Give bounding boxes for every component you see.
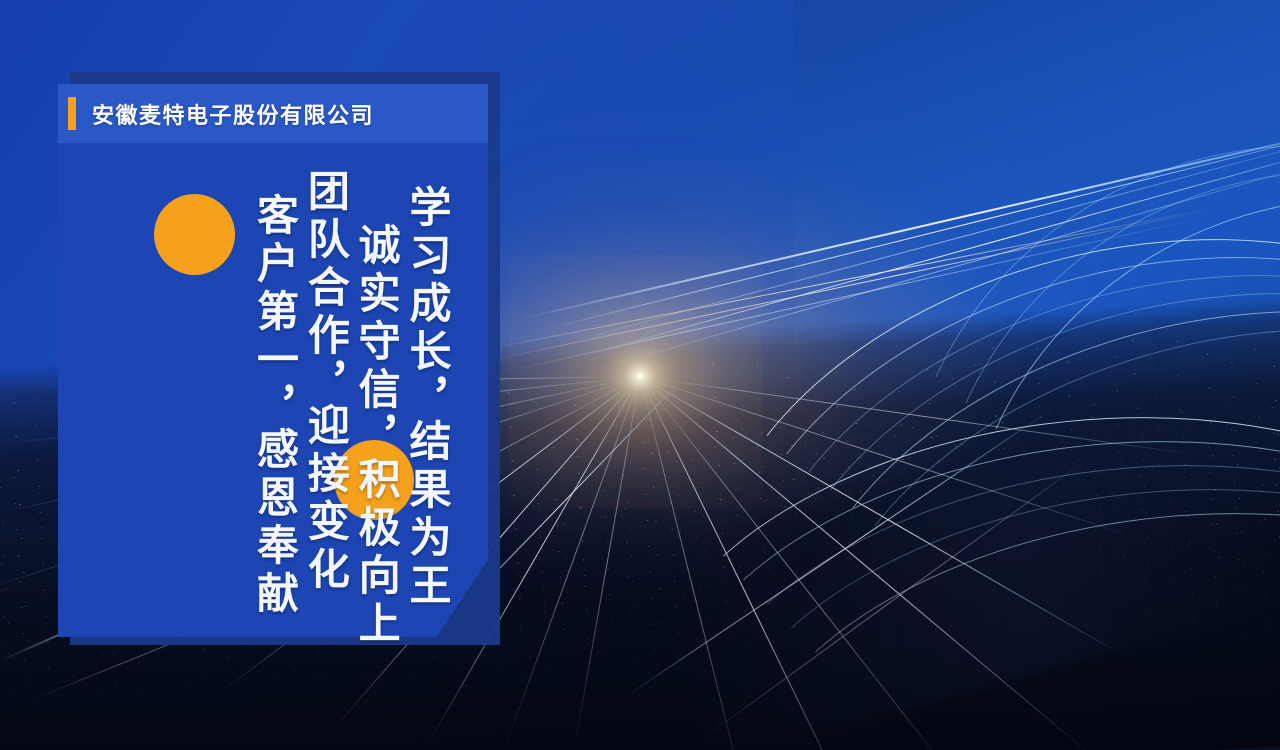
slogan-char: 客 xyxy=(253,193,296,241)
slogan-char: 习 xyxy=(405,233,448,281)
slogan-char: 化 xyxy=(304,547,347,595)
slogan-column-teamwork: 团队合作，迎接变化 xyxy=(304,169,347,595)
slogan-char: 学 xyxy=(405,185,448,233)
slogan-char: 奉 xyxy=(253,523,296,571)
accent-bar-icon xyxy=(68,97,76,130)
slogan-char: 团 xyxy=(304,169,347,217)
banner-stage: 安徽麦特电子股份有限公司 学习成长，结果为王 诚实守信，积极向上 团队合作，迎接… xyxy=(0,0,1280,750)
slogan-char: 结 xyxy=(405,419,448,467)
slogan-char: 感 xyxy=(253,427,296,475)
slogan-char: 积 xyxy=(354,457,397,505)
slogan-char: 守 xyxy=(354,319,397,367)
slogan-char: 队 xyxy=(304,217,347,265)
slogan-char: 向 xyxy=(354,553,397,601)
slogan-char: 合 xyxy=(304,265,347,313)
slogan-char: 户 xyxy=(253,241,296,289)
slogan-char: ， xyxy=(405,377,448,419)
slogan-char: 极 xyxy=(354,505,397,553)
slogan-char: 恩 xyxy=(253,475,296,523)
slogan-char: ， xyxy=(253,385,296,427)
slogan-char: 成 xyxy=(405,281,448,329)
slogan-column-customer-first: 客户第一，感恩奉献 xyxy=(253,193,296,619)
glow-core xyxy=(637,373,643,379)
slogan-column-learn-grow: 学习成长，结果为王 xyxy=(405,185,448,611)
slogan-char: 一 xyxy=(253,337,296,385)
slogan-char: 变 xyxy=(304,499,347,547)
slogan-char: 王 xyxy=(405,563,448,611)
slogan-char: 作 xyxy=(304,313,347,361)
slogan-char: 接 xyxy=(304,451,347,499)
company-name-title: 安徽麦特电子股份有限公司 xyxy=(92,98,374,130)
slogan-char: 上 xyxy=(354,601,397,649)
slogan-char: 果 xyxy=(405,467,448,515)
card-header: 安徽麦特电子股份有限公司 xyxy=(58,84,488,143)
slogan-char: 诚 xyxy=(354,223,397,271)
slogan-char: 献 xyxy=(253,571,296,619)
slogan-columns: 学习成长，结果为王 诚实守信，积极向上 团队合作，迎接变化 客户第一，感恩奉献 xyxy=(58,143,488,637)
slogan-char: 实 xyxy=(354,271,397,319)
slogan-char: 为 xyxy=(405,515,448,563)
slogan-char: 迎 xyxy=(304,403,347,451)
slogan-column-honesty: 诚实守信，积极向上 xyxy=(354,223,397,649)
slogan-char: ， xyxy=(354,415,397,457)
slogan-char: 信 xyxy=(354,367,397,415)
slogan-char: 第 xyxy=(253,289,296,337)
slogan-char: ， xyxy=(304,361,347,403)
slogan-char: 长 xyxy=(405,329,448,377)
